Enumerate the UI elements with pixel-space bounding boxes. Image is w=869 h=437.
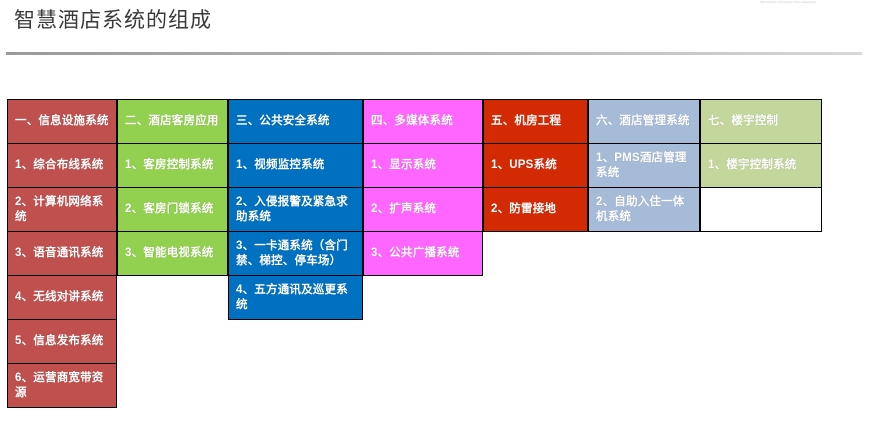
category-header-label: 四、多媒体系统 [371,114,453,129]
subsystem-cell[interactable]: 2、客房门锁系统 [117,187,228,232]
system-composition-matrix: 一、信息设施系统1、综合布线系统2、计算机网络系统3、语音通讯系统4、无线对讲系… [8,100,823,408]
subsystem-label: 3、一卡通系统（含门禁、梯控、停车场） [236,239,357,269]
matrix-column-3: 三、公共安全系统1、视频监控系统2、入侵报警及紧急求助系统3、一卡通系统（含门禁… [229,100,364,320]
category-header-4[interactable]: 四、多媒体系统 [363,99,483,144]
subsystem-cell[interactable]: 1、UPS系统 [483,143,588,188]
subsystem-label: 2、入侵报警及紧急求助系统 [236,195,357,225]
matrix-column-4: 四、多媒体系统1、显示系统2、扩声系统3、公共广播系统 [364,100,484,276]
matrix-column-1: 一、信息设施系统1、综合布线系统2、计算机网络系统3、语音通讯系统4、无线对讲系… [8,100,118,408]
subsystem-label: 1、楼宇控制系统 [708,158,797,173]
subsystem-cell[interactable]: 1、客房控制系统 [117,143,228,188]
subsystem-label: 2、计算机网络系统 [15,195,111,225]
subsystem-label: 1、PMS酒店管理系统 [596,151,694,181]
subsystem-label: 1、客房控制系统 [125,158,214,173]
subsystem-label: 1、综合布线系统 [15,158,104,173]
subsystem-cell[interactable]: 1、综合布线系统 [7,143,117,188]
subsystem-label: 1、视频监控系统 [236,158,325,173]
subsystem-cell[interactable]: 3、语音通讯系统 [7,231,117,276]
subsystem-label: 2、扩声系统 [371,202,436,217]
subsystem-cell[interactable]: 1、楼宇控制系统 [700,143,822,188]
subsystem-label: 1、显示系统 [371,158,436,173]
empty-cell [700,187,822,232]
subsystem-label: 4、无线对讲系统 [15,290,104,305]
subsystem-label: 4、五方通讯及巡更系统 [236,283,357,313]
category-header-2[interactable]: 二、酒店客房应用 [117,99,228,144]
subsystem-cell[interactable]: 2、扩声系统 [363,187,483,232]
subsystem-cell[interactable]: 1、视频监控系统 [228,143,363,188]
subsystem-cell[interactable]: 3、一卡通系统（含门禁、梯控、停车场） [228,231,363,276]
subsystem-label: 2、客房门锁系统 [125,202,214,217]
page-title: 智慧酒店系统的组成 [14,6,212,36]
subsystem-label: 3、公共广播系统 [371,246,460,261]
subsystem-cell[interactable]: 4、五方通讯及巡更系统 [228,275,363,320]
subsystem-cell[interactable]: 2、入侵报警及紧急求助系统 [228,187,363,232]
matrix-column-2: 二、酒店客房应用1、客房控制系统2、客房门锁系统3、智能电视系统 [118,100,229,276]
subsystem-label: 2、防雷接地 [491,202,556,217]
subsystem-cell[interactable]: 2、防雷接地 [483,187,588,232]
subsystem-cell[interactable]: 1、PMS酒店管理系统 [588,143,700,188]
subsystem-label: 2、自助入住一体机系统 [596,195,694,225]
category-header-5[interactable]: 五、机房工程 [483,99,588,144]
subsystem-cell[interactable]: 1、显示系统 [363,143,483,188]
watermark-text: Official Partner of the Olympic Winter G… [713,1,863,5]
subsystem-label: 5、信息发布系统 [15,334,104,349]
matrix-column-7: 七、楼宇控制1、楼宇控制系统 [701,100,823,232]
category-header-label: 三、公共安全系统 [236,114,330,129]
subsystem-label: 3、语音通讯系统 [15,246,104,261]
subsystem-cell[interactable]: 6、运营商宽带资源 [7,363,117,408]
subsystem-cell[interactable]: 2、计算机网络系统 [7,187,117,232]
matrix-column-6: 六、酒店管理系统1、PMS酒店管理系统2、自助入住一体机系统 [589,100,701,232]
subsystem-cell[interactable]: 4、无线对讲系统 [7,275,117,320]
category-header-1[interactable]: 一、信息设施系统 [7,99,117,144]
subsystem-cell[interactable]: 2、自助入住一体机系统 [588,187,700,232]
subsystem-label: 1、UPS系统 [491,158,557,173]
subsystem-cell[interactable]: 3、智能电视系统 [117,231,228,276]
category-header-7[interactable]: 七、楼宇控制 [700,99,822,144]
subsystem-label: 3、智能电视系统 [125,246,214,261]
category-header-6[interactable]: 六、酒店管理系统 [588,99,700,144]
title-divider [6,52,862,55]
subsystem-cell[interactable]: 3、公共广播系统 [363,231,483,276]
category-header-label: 二、酒店客房应用 [125,114,219,129]
category-header-label: 七、楼宇控制 [708,114,778,129]
category-header-label: 一、信息设施系统 [15,114,109,129]
matrix-column-5: 五、机房工程1、UPS系统2、防雷接地 [484,100,589,232]
subsystem-cell[interactable]: 5、信息发布系统 [7,319,117,364]
category-header-label: 六、酒店管理系统 [596,114,690,129]
subsystem-label: 6、运营商宽带资源 [15,371,111,401]
category-header-label: 五、机房工程 [491,114,561,129]
category-header-3[interactable]: 三、公共安全系统 [228,99,363,144]
